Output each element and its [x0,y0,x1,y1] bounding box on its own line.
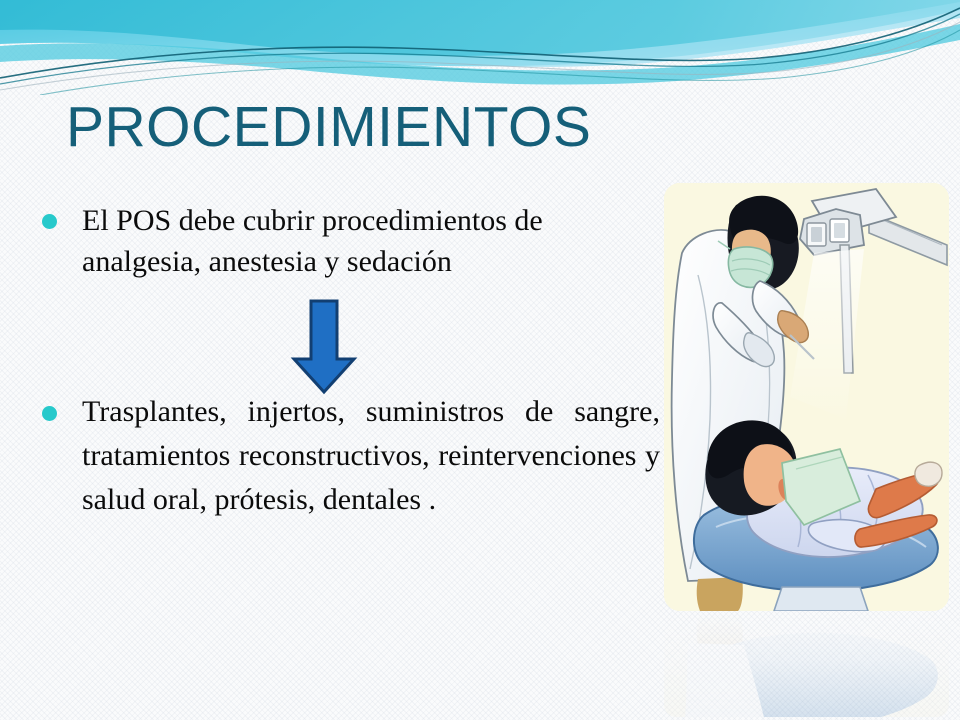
header-wave-decoration [0,0,960,95]
down-arrow-icon [290,299,358,395]
picture-reflection [664,613,949,717]
bullet-item-text: Trasplantes, injertos, suministros de sa… [82,390,660,522]
bullet-item-text: El POS debe cubrir procedimientos de ana… [82,200,662,282]
dental-procedure-image [664,183,949,611]
bullet-item: Trasplantes, injertos, suministros de sa… [34,390,662,522]
bullet-item: El POS debe cubrir procedimientos de ana… [34,200,662,282]
bullet-dot-icon [42,406,57,421]
presentation-slide: PROCEDIMIENTOS El POS debe cubrir proced… [0,0,960,720]
page-title: PROCEDIMIENTOS [66,92,591,162]
bullet-dot-icon [42,214,57,229]
